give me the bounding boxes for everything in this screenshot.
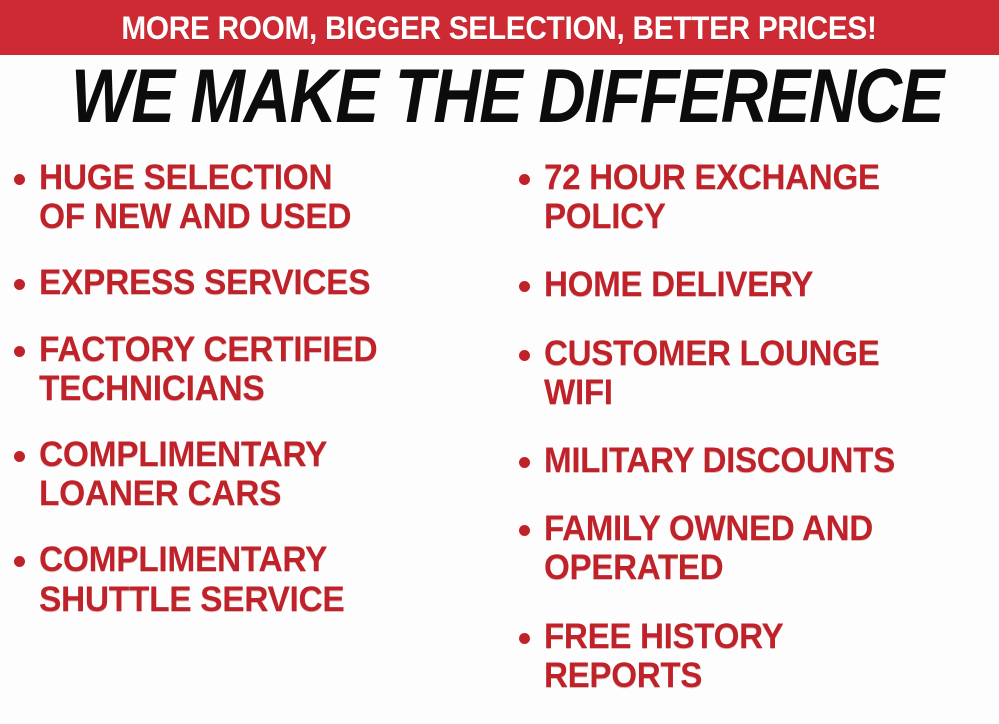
list-item: HOME DELIVERY [519, 265, 999, 304]
list-item-label: EXPRESS SERVICES [39, 263, 486, 302]
bullet-dot-icon [519, 281, 530, 292]
list-item: 72 HOUR EXCHANGE POLICY [519, 158, 999, 236]
bullet-dot-icon [519, 174, 530, 185]
list-item-label: HOME DELIVERY [544, 265, 976, 304]
list-item-label: FAMILY OWNED AND OPERATED [544, 509, 976, 587]
list-item: FAMILY OWNED AND OPERATED [519, 509, 999, 587]
bullet-dot-icon [519, 633, 530, 644]
bullet-dot-icon [14, 174, 25, 185]
headline: WE MAKE THE DIFFERENCE [0, 61, 999, 133]
bullet-dot-icon [14, 346, 25, 357]
list-item: HUGE SELECTION OF NEW AND USED [14, 158, 505, 236]
bullet-dot-icon [519, 350, 530, 361]
headline-text: WE MAKE THE DIFFERENCE [71, 61, 943, 133]
list-item: CUSTOMER LOUNGE WIFI [519, 334, 999, 412]
list-item-label: MILITARY DISCOUNTS [544, 441, 976, 480]
top-promo-banner: MORE ROOM, BIGGER SELECTION, BETTER PRIC… [0, 0, 999, 55]
list-item: COMPLIMENTARY LOANER CARS [14, 435, 505, 513]
benefits-column-right: 72 HOUR EXCHANGE POLICY HOME DELIVERY CU… [505, 158, 999, 724]
advertisement-banner: MORE ROOM, BIGGER SELECTION, BETTER PRIC… [0, 0, 999, 692]
list-item: COMPLIMENTARY SHUTTLE SERVICE [14, 540, 505, 618]
list-item: MILITARY DISCOUNTS [519, 441, 999, 480]
list-item-label: CUSTOMER LOUNGE WIFI [544, 334, 976, 412]
list-item-label: HUGE SELECTION OF NEW AND USED [39, 158, 486, 236]
list-item-label: COMPLIMENTARY SHUTTLE SERVICE [39, 540, 486, 618]
bullet-dot-icon [14, 451, 25, 462]
list-item-label: 72 HOUR EXCHANGE POLICY [544, 158, 976, 236]
bullet-dot-icon [14, 556, 25, 567]
benefits-columns: HUGE SELECTION OF NEW AND USED EXPRESS S… [0, 158, 999, 692]
list-item: FREE HISTORY REPORTS [519, 617, 999, 695]
bullet-dot-icon [519, 525, 530, 536]
benefits-column-left: HUGE SELECTION OF NEW AND USED EXPRESS S… [0, 158, 505, 646]
list-item: EXPRESS SERVICES [14, 263, 505, 302]
top-promo-banner-text: MORE ROOM, BIGGER SELECTION, BETTER PRIC… [122, 12, 877, 44]
list-item-label: COMPLIMENTARY LOANER CARS [39, 435, 486, 513]
list-item-label: FACTORY CERTIFIED TECHNICIANS [39, 330, 486, 408]
bullet-dot-icon [14, 279, 25, 290]
list-item-label: FREE HISTORY REPORTS [544, 617, 976, 695]
bullet-dot-icon [519, 457, 530, 468]
list-item: FACTORY CERTIFIED TECHNICIANS [14, 330, 505, 408]
